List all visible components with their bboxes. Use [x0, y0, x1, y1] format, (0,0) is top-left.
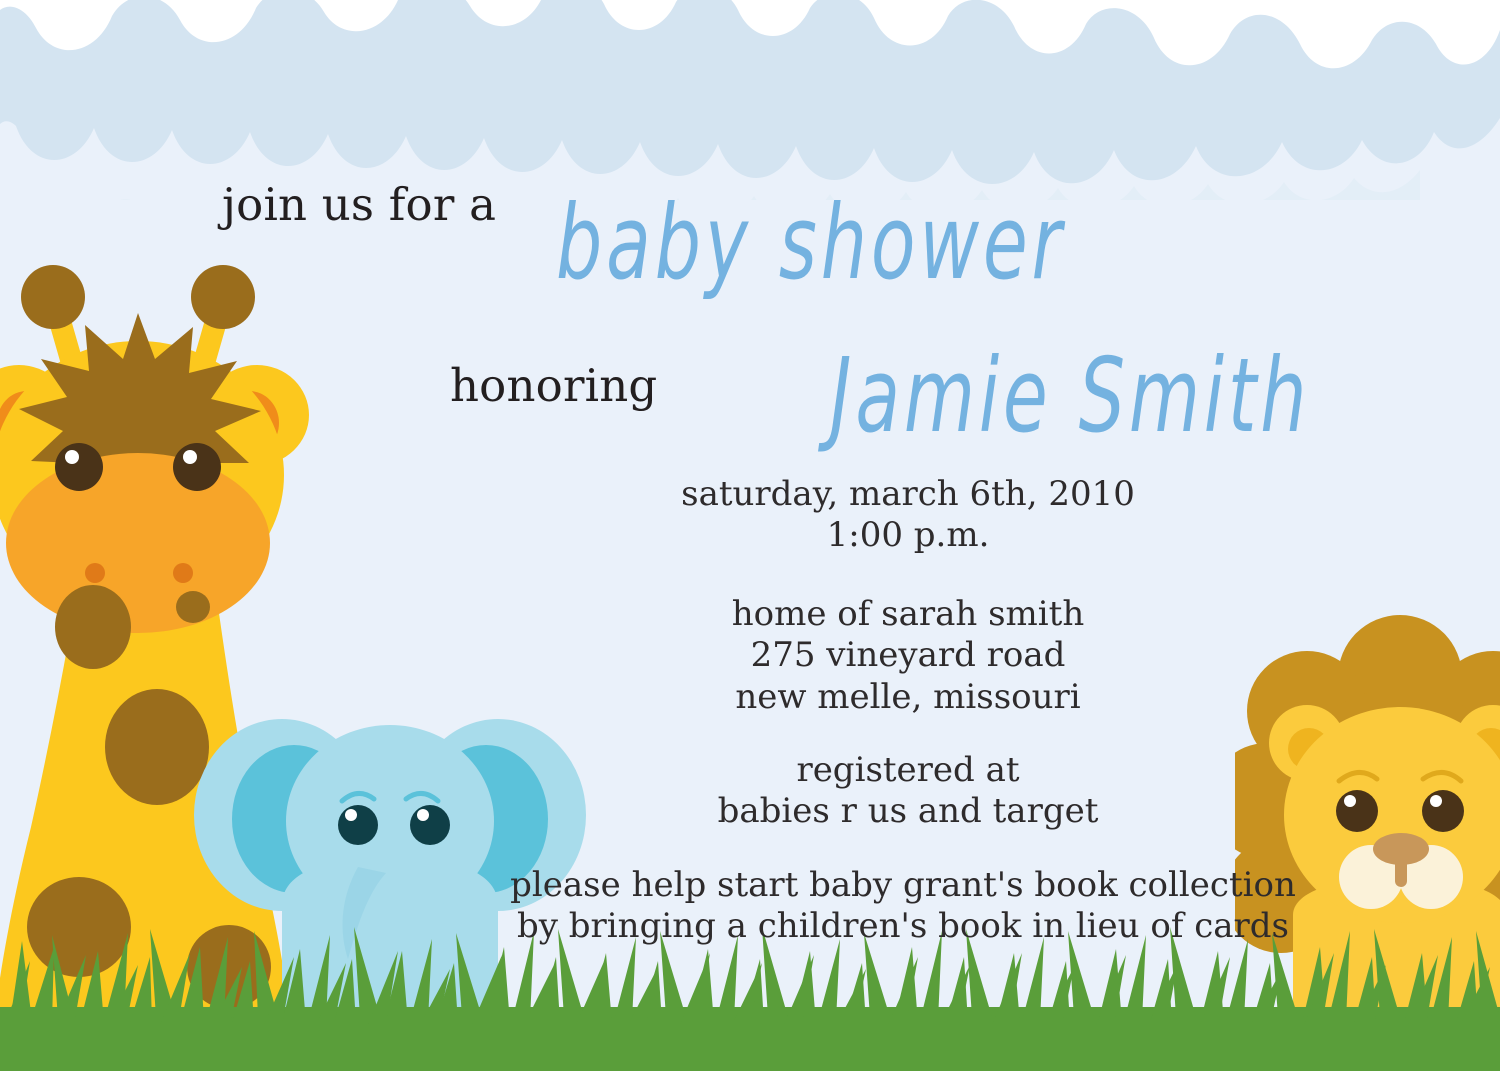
- address-line-1: home of sarah smith: [158, 594, 1500, 635]
- book-request-note: please help start baby grant's book coll…: [153, 865, 1500, 948]
- giraffe-spot: [27, 877, 131, 977]
- honoring-label: honoring: [450, 363, 657, 408]
- giraffe-right-nostril: [173, 563, 193, 583]
- giraffe-left-ossicone-knob: [21, 265, 85, 329]
- giraffe-right-ear: [205, 365, 309, 465]
- giraffe-right-eye-highlight: [183, 450, 197, 464]
- join-us-line: join us for a: [222, 182, 496, 227]
- giraffe-right-ossicone-stalk: [184, 300, 232, 398]
- invitation-card: join us for a baby shower honoring Jamie…: [0, 0, 1500, 1071]
- giraffe-left-eye-highlight: [65, 450, 79, 464]
- lion-nose: [1373, 833, 1429, 865]
- cloud-band: [0, 0, 1500, 200]
- event-date: saturday, march 6th, 2010: [158, 474, 1500, 515]
- giraffe-left-ear: [0, 365, 71, 465]
- address-line-2: 275 vineyard road: [158, 635, 1500, 676]
- giraffe-left-inner-ear: [0, 391, 57, 455]
- address-line-3: new melle, missouri: [158, 677, 1500, 718]
- giraffe-left-ossicone-stalk: [44, 300, 92, 398]
- note-line-2: by bringing a children's book in lieu of…: [153, 906, 1500, 947]
- note-line-1: please help start baby grant's book coll…: [153, 865, 1500, 906]
- giraffe-left-eye: [55, 443, 103, 491]
- giraffe-right-inner-ear: [219, 391, 279, 455]
- honoree-name: Jamie Smith: [830, 345, 1310, 448]
- giraffe-spot: [0, 1007, 43, 1055]
- event-time: 1:00 p.m.: [158, 515, 1500, 556]
- giraffe-left-nostril: [85, 563, 105, 583]
- cloud-back-icon: [0, 0, 1500, 184]
- datetime-block: saturday, march 6th, 2010 1:00 p.m.: [158, 474, 1500, 557]
- baby-shower-title: baby shower: [556, 192, 1065, 295]
- registry-label: registered at: [158, 750, 1500, 791]
- registry-stores: babies r us and target: [158, 791, 1500, 832]
- giraffe-right-ossicone-knob: [191, 265, 255, 329]
- registry-block: registered at babies r us and target: [158, 750, 1500, 833]
- cloud-front-icon: [0, 0, 1500, 68]
- giraffe-spot: [55, 585, 131, 669]
- address-block: home of sarah smith 275 vineyard road ne…: [158, 594, 1500, 718]
- grass-blades: [0, 927, 1500, 1071]
